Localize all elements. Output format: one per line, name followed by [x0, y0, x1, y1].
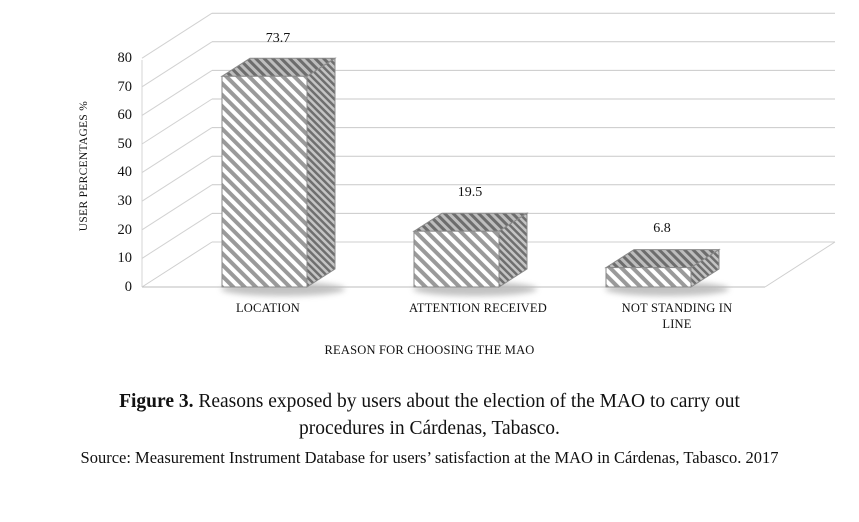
category-label-location: LOCATION	[178, 300, 358, 316]
bar-location[interactable]	[221, 58, 345, 296]
value-label-location: 73.7	[218, 31, 338, 47]
figure-number: Figure 3.	[119, 391, 193, 412]
category-label-line1: NOT STANDING IN	[622, 301, 733, 315]
y-tick-0: 0	[98, 279, 132, 296]
y-tick-70: 70	[98, 79, 132, 96]
figure-caption: Figure 3. Reasons exposed by users about…	[0, 388, 859, 469]
y-axis-title: USER PERCENTAGES %	[78, 56, 90, 276]
bar-attention-received[interactable]	[413, 213, 537, 296]
caption-body: Reasons exposed by users about the elect…	[193, 391, 739, 439]
y-tick-80: 80	[98, 50, 132, 67]
bar-chart: USER PERCENTAGES % 80 70 60 50 40 30 20 …	[0, 0, 859, 375]
y-tick-30: 30	[98, 193, 132, 210]
value-label-not-standing-in-line: 6.8	[602, 221, 722, 237]
category-label-line2: LINE	[662, 317, 691, 331]
y-tick-50: 50	[98, 136, 132, 153]
caption-main-text: Figure 3. Reasons exposed by users about…	[0, 388, 859, 442]
x-axis-title: REASON FOR CHOOSING THE MAO	[0, 343, 859, 358]
value-label-attention-received: 19.5	[410, 185, 530, 201]
y-tick-10: 10	[98, 250, 132, 267]
y-tick-20: 20	[98, 222, 132, 239]
y-tick-40: 40	[98, 164, 132, 181]
figure-container: USER PERCENTAGES % 80 70 60 50 40 30 20 …	[0, 0, 859, 522]
caption-source-text: Source: Measurement Instrument Database …	[0, 446, 859, 469]
bar-not-standing-in-line[interactable]	[605, 250, 729, 296]
y-tick-60: 60	[98, 107, 132, 124]
category-label-not-standing-in-line: NOT STANDING IN LINE	[577, 300, 777, 332]
category-label-attention-received: ATTENTION RECEIVED	[378, 300, 578, 316]
